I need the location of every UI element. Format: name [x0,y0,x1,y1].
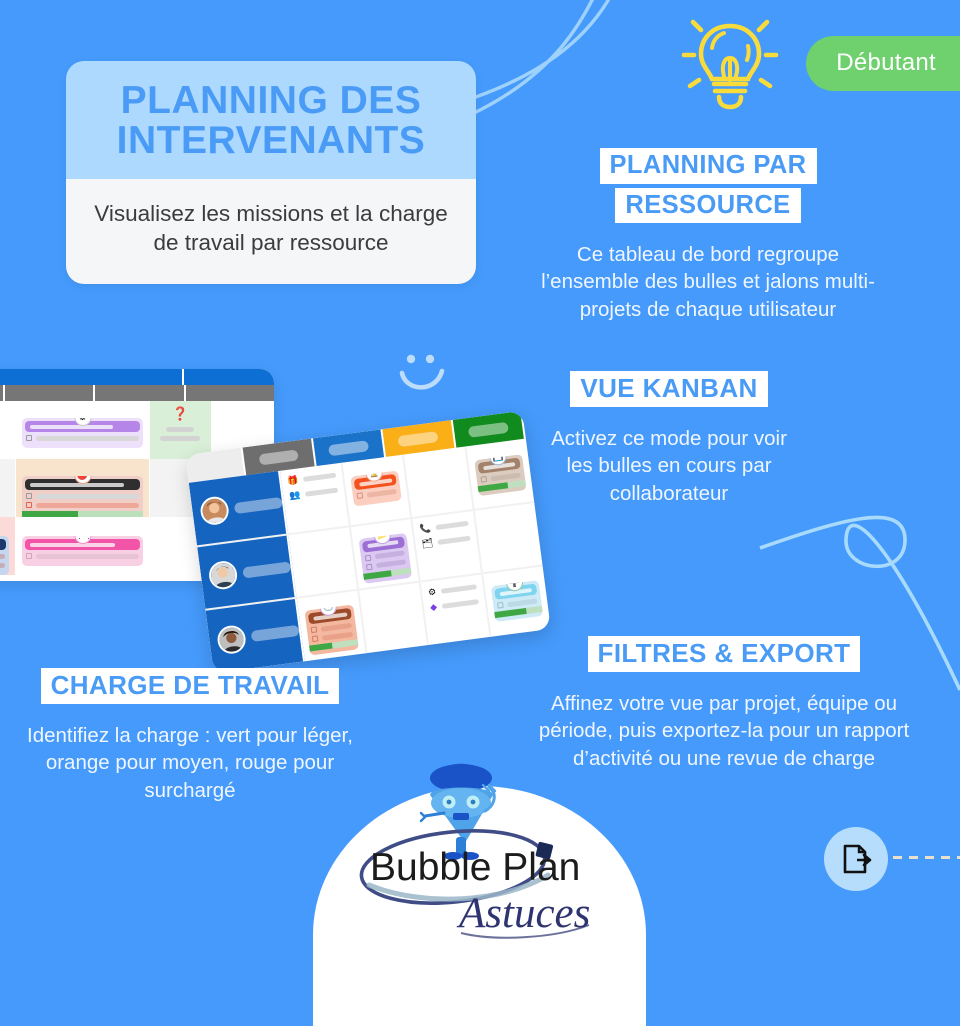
task-card: ⋮⋮ [22,536,143,566]
task-card: ⚙ [22,418,143,448]
level-badge: Débutant [806,36,960,91]
kanban-cell: 🕐 [297,591,367,661]
avatar [207,559,238,590]
kanban-cell: 💾 [466,439,534,509]
task-card: 💾 [474,454,527,496]
page-title: PLANNING DES INTERVENANTS [82,81,460,161]
section-charge-de-travail: CHARGE DE TRAVAIL Identifiez la charge :… [24,668,356,804]
euro-icon: € [0,407,9,420]
kanban-cell: ➕ [483,567,551,637]
level-badge-label: Débutant [836,49,936,76]
title-card-body: Visualisez les missions et la charge de … [66,179,476,285]
gantt-cell: ❓ [150,401,212,459]
gantt-cell: € [0,401,16,459]
section-heading-line: FILTRES & EXPORT [588,636,861,672]
file-export-icon [839,842,873,876]
archive-icon: 🗂 [421,538,434,548]
task-card: 🕐 [304,605,358,656]
kanban-user-cell [197,535,296,609]
task-card: ➕ [490,580,543,622]
section-planning-par-ressource: PLANNING PAR RESSOURCE Ce tableau de bor… [538,148,878,323]
avatar [199,495,230,526]
kanban-cell: 📞 🗂 [412,511,482,581]
gantt-cell: ⚙ [16,401,150,459]
gantt-column-headers [0,385,274,401]
task-card: ⌛ [0,536,9,575]
dashed-connector-line [893,856,960,859]
infographic-canvas: PLANNING DES INTERVENANTS Visualisez les… [0,0,960,960]
people-icon: 👥 [289,490,301,500]
title-card: PLANNING DES INTERVENANTS Visualisez les… [66,61,476,284]
task-card: 📁 [358,533,412,584]
gift-icon: 🎁 [287,476,299,486]
section-body: Activez ce mode pour voir les bulles en … [540,425,798,507]
kanban-cell [288,527,358,597]
gantt-column-header [5,385,94,401]
gantt-topbar [0,369,274,385]
gantt-cell: 🔴 [16,459,150,517]
bubble-plan-logo: Bubble Plan Astuces [313,755,646,960]
gantt-column-header [95,385,184,401]
section-filtres-export: FILTRES & EXPORT Affinez votre vue par p… [520,636,928,772]
gear-icon: ⚙ [428,588,437,598]
section-body: Ce tableau de bord regroupe l’ensemble d… [538,241,878,323]
section-heading-line: PLANNING PAR [600,148,817,184]
section-vue-kanban: VUE KANBAN Activez ce mode pour voir les… [540,371,798,507]
phone-icon: 📞 [419,523,431,533]
kanban-cell [474,503,542,573]
vue-kanban-screenshot: 🎁 👥 ⌛ 💾 [185,411,551,673]
gantt-column-header [0,385,3,401]
kanban-user-cell [206,599,305,673]
kanban-user-cell [189,471,288,545]
task-card: ⌛ [350,470,402,506]
section-heading-line: CHARGE DE TRAVAIL [41,668,340,704]
kanban-user-name [234,497,283,514]
gantt-cell: ✎ [0,459,16,517]
kanban-cell: ⚙ ◆ [421,575,491,645]
help-icon: ❓ [156,407,205,420]
kanban-cell [404,446,474,516]
gantt-cell: ⋮⋮ [16,517,150,575]
export-button[interactable] [824,827,888,891]
kanban-user-name [251,625,300,642]
logo-brand-text: Bubble Plan [370,846,580,889]
gantt-column-header [186,385,275,401]
section-body: Identifiez la charge : vert pour léger, … [24,722,356,804]
avatar [216,624,247,655]
section-heading-line: RESSOURCE [615,188,800,224]
kanban-cell: ⌛ [342,455,412,525]
lightbulb-icon [676,8,784,120]
section-heading-line: VUE KANBAN [570,371,767,407]
kanban-cell: 🎁 👥 [280,463,350,533]
title-card-header: PLANNING DES INTERVENANTS [66,61,476,179]
page-subtitle: Visualisez les missions et la charge de … [90,199,452,259]
edit-icon: ✎ [0,465,9,478]
kanban-cell [359,583,429,653]
smiley-face-icon [392,348,452,402]
gantt-cell: ⌛ [0,517,16,575]
kanban-user-name [242,561,291,578]
task-card: 🔴 [22,476,143,521]
diamond-icon: ◆ [430,603,438,613]
kanban-cell: 📁 [350,519,420,589]
